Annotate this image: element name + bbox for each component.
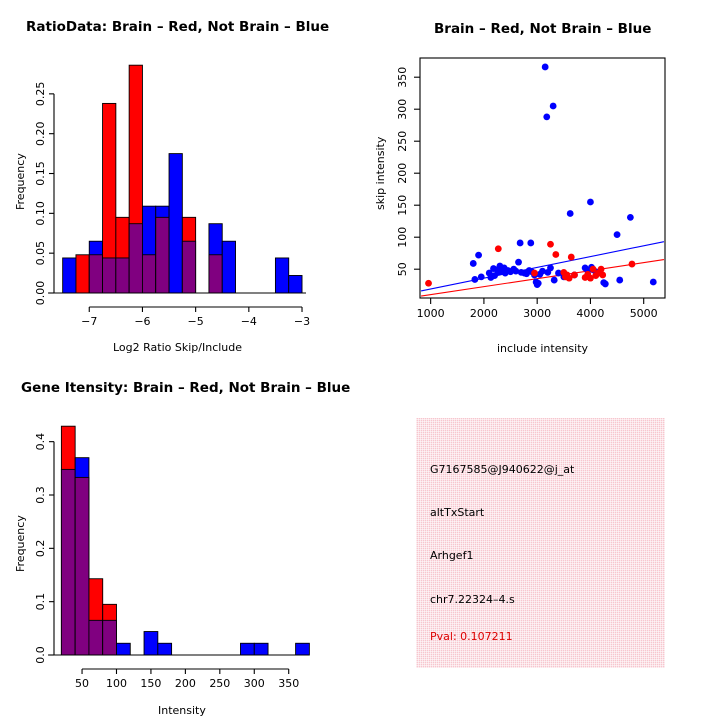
- scatter-xlabel: include intensity: [497, 342, 588, 355]
- hist-bar: [254, 643, 268, 655]
- hist-bar-overlap: [209, 255, 222, 293]
- hist-bar: [222, 241, 235, 293]
- hist-bar: [240, 643, 254, 655]
- scatter-point: [475, 252, 482, 259]
- scatter-point: [551, 277, 558, 284]
- scatter-plot: 5010015020025030035010002000300040005000: [360, 0, 720, 360]
- x-tick-label: 300: [244, 677, 265, 690]
- scatter-point: [517, 240, 524, 247]
- x-tick-label: 1000: [417, 307, 445, 320]
- scatter-point: [571, 272, 578, 279]
- figure-canvas: RatioData: Brain – Red, Not Brain – Blue…: [0, 0, 720, 720]
- plot-frame: [420, 58, 665, 298]
- hist-bar: [289, 275, 302, 293]
- panel-ratio-histogram: RatioData: Brain – Red, Not Brain – Blue…: [0, 0, 360, 360]
- gene-symbol-text: Arhgef1: [430, 549, 473, 562]
- y-tick-label: 0.25: [34, 82, 47, 107]
- pval-text: Pval: 0.107211: [430, 630, 513, 643]
- y-tick-label: 150: [396, 195, 409, 216]
- y-tick-label: 0.20: [34, 121, 47, 146]
- hist-bar: [144, 632, 158, 655]
- trend-line: [421, 260, 664, 296]
- hist-bar-overlap: [89, 620, 103, 655]
- y-tick-label: 0.0: [34, 646, 47, 664]
- scatter-point: [552, 251, 559, 258]
- y-tick-label: 250: [396, 131, 409, 152]
- hist-bar: [275, 258, 288, 293]
- hist-bar-overlap: [61, 469, 75, 655]
- scatter-point: [515, 259, 522, 266]
- svg-gene-group: 0.00.10.20.30.450100150200250300350: [34, 426, 309, 690]
- scatter-point: [602, 281, 609, 288]
- y-tick-label: 50: [396, 262, 409, 276]
- trend-line: [421, 242, 664, 291]
- probe-id-text: G7167585@J940622@j_at: [430, 463, 574, 476]
- scatter-point: [471, 276, 478, 283]
- coordinate-text: chr7.22324–4.s: [430, 593, 515, 606]
- scatter-point: [599, 272, 606, 279]
- hist-bar: [63, 258, 76, 293]
- hist-bar: [158, 643, 172, 655]
- x-tick-label: 200: [175, 677, 196, 690]
- hist-bar-overlap: [129, 224, 142, 293]
- hist-bar: [169, 154, 182, 293]
- x-tick-label: 5000: [630, 307, 658, 320]
- scatter-point: [629, 261, 636, 268]
- x-tick-label: 150: [140, 677, 161, 690]
- scatter-group: 5010015020025030035010002000300040005000: [396, 58, 665, 320]
- scatter-point: [550, 103, 557, 110]
- hist-bar: [116, 643, 130, 655]
- x-tick-label: 2000: [470, 307, 498, 320]
- x-tick-label: 3000: [523, 307, 551, 320]
- gene-histogram-xlabel: Intensity: [158, 704, 206, 717]
- scatter-point: [598, 266, 605, 273]
- scatter-point: [478, 273, 485, 280]
- y-tick-label: 350: [396, 67, 409, 88]
- y-tick-label: 0.2: [34, 540, 47, 558]
- scatter-point: [527, 240, 534, 247]
- hist-bar-overlap: [75, 477, 89, 655]
- ratio-histogram-plot: 0.000.050.100.150.200.25−7−6−5−4−3: [0, 0, 360, 360]
- scatter-point: [531, 270, 538, 277]
- y-tick-label: 100: [396, 227, 409, 248]
- x-tick-label: −7: [81, 315, 97, 328]
- x-tick-label: −5: [188, 315, 204, 328]
- x-tick-label: 250: [209, 677, 230, 690]
- hist-bar-overlap: [103, 258, 116, 293]
- ratio-histogram-title: RatioData: Brain – Red, Not Brain – Blue: [26, 19, 329, 35]
- x-tick-label: −4: [241, 315, 257, 328]
- hist-bar-overlap: [182, 241, 195, 293]
- scatter-point: [425, 280, 432, 287]
- x-tick-label: 100: [106, 677, 127, 690]
- svg-ratio-group: 0.000.050.100.150.200.25−7−6−5−4−3: [34, 65, 310, 328]
- hist-bar-overlap: [142, 255, 155, 293]
- scatter-point: [547, 265, 554, 272]
- panel-gene-histogram: Gene Itensity: Brain – Red, Not Brain – …: [0, 360, 360, 720]
- scatter-point: [567, 210, 574, 217]
- y-tick-label: 0.4: [34, 433, 47, 451]
- event-type-text: altTxStart: [430, 506, 484, 519]
- scatter-point: [650, 279, 657, 286]
- hist-bar-overlap: [116, 258, 129, 293]
- y-tick-label: 0.05: [34, 241, 47, 266]
- x-tick-label: 50: [75, 677, 89, 690]
- x-tick-label: 350: [278, 677, 299, 690]
- scatter-ylabel: skip intensity: [374, 137, 387, 210]
- y-tick-label: 0.00: [34, 281, 47, 306]
- gene-histogram-title: Gene Itensity: Brain – Red, Not Brain – …: [21, 380, 350, 396]
- hist-bar-overlap: [103, 620, 117, 655]
- panel-scatter: Brain – Red, Not Brain – Blue skip inten…: [360, 0, 720, 360]
- scatter-point: [616, 277, 623, 284]
- x-tick-label: −3: [294, 315, 310, 328]
- scatter-point: [535, 280, 542, 287]
- y-tick-label: 300: [396, 99, 409, 120]
- x-tick-label: −6: [134, 315, 150, 328]
- y-tick-label: 0.15: [34, 161, 47, 186]
- hist-bar-overlap: [156, 217, 169, 293]
- y-tick-label: 0.1: [34, 593, 47, 611]
- scatter-point: [587, 199, 594, 206]
- scatter-point: [495, 245, 502, 252]
- scatter-point: [568, 254, 575, 261]
- hist-bar: [296, 643, 310, 655]
- scatter-point: [470, 260, 477, 267]
- y-tick-label: 0.10: [34, 201, 47, 226]
- gene-info-panel: G7167585@J940622@j_at altTxStart Arhgef1…: [416, 418, 665, 668]
- gene-histogram-plot: 0.00.10.20.30.450100150200250300350: [0, 360, 360, 720]
- gene-histogram-ylabel: Frequency: [14, 515, 27, 572]
- y-tick-label: 200: [396, 163, 409, 184]
- scatter-point: [543, 113, 550, 120]
- y-tick-label: 0.3: [34, 486, 47, 504]
- ratio-histogram-xlabel: Log2 Ratio Skip/Include: [113, 341, 242, 354]
- scatter-title: Brain – Red, Not Brain – Blue: [434, 21, 651, 37]
- scatter-point: [542, 64, 549, 71]
- scatter-point: [614, 231, 621, 238]
- ratio-histogram-ylabel: Frequency: [14, 153, 27, 210]
- scatter-point: [547, 241, 554, 248]
- hist-bar-overlap: [89, 255, 102, 293]
- hist-bar: [76, 255, 89, 293]
- scatter-point: [627, 214, 634, 221]
- x-tick-label: 4000: [576, 307, 604, 320]
